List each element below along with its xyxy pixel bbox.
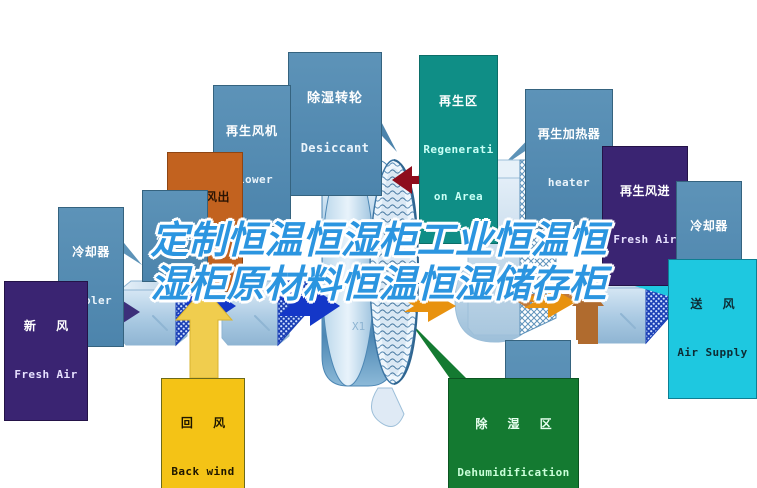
label-regeneration-heater: 再生加热器 heater	[525, 89, 613, 229]
label-back-wind: 回 风 Back wind	[161, 378, 245, 488]
label-desiccant-wheel: 除湿转轮 Desiccant	[288, 52, 382, 196]
svg-text:X1: X1	[352, 320, 365, 333]
label-en: Fresh Air	[7, 369, 85, 381]
label-cn: 送 风	[671, 298, 754, 311]
label-en-line1: Regenerati	[422, 144, 495, 156]
label-cn: 除湿转轮	[291, 92, 379, 107]
label-cn: 再生区	[422, 95, 495, 108]
label-en: Desiccant	[291, 142, 379, 155]
label-cn: 冷却器	[145, 229, 205, 242]
label-dehumidification-district: 除 湿 区 Dehumidification District	[448, 378, 579, 488]
label-cn: 再生加热器	[528, 128, 610, 141]
label-en: Back wind	[164, 466, 242, 478]
desiccant-wheel: X1	[322, 158, 418, 427]
label-cn: 再生风机	[216, 125, 288, 138]
label-cn: 回 风	[164, 417, 242, 430]
label-regeneration-area: 再生区 Regenerati on Area	[419, 55, 498, 244]
label-en-line1: Dehumidification	[451, 467, 576, 479]
label-cn: 除 湿 区	[451, 418, 576, 431]
label-cooler-second: 冷却器	[142, 190, 208, 282]
label-cn: 再生风进	[605, 185, 685, 198]
label-en: heater	[528, 177, 610, 189]
label-cn: 冷却器	[61, 246, 121, 259]
diagram-canvas: X1	[0, 0, 757, 488]
label-cn: 冷却器	[679, 220, 739, 233]
label-en: Air Supply	[671, 347, 754, 359]
label-en: Fresh Air	[605, 234, 685, 246]
label-fresh-air-inlet: 新 风 Fresh Air	[4, 281, 88, 421]
label-en-line2: on Area	[422, 191, 495, 203]
label-cn: 新 风	[7, 320, 85, 333]
label-air-supply: 送 风 Air Supply	[668, 259, 757, 399]
